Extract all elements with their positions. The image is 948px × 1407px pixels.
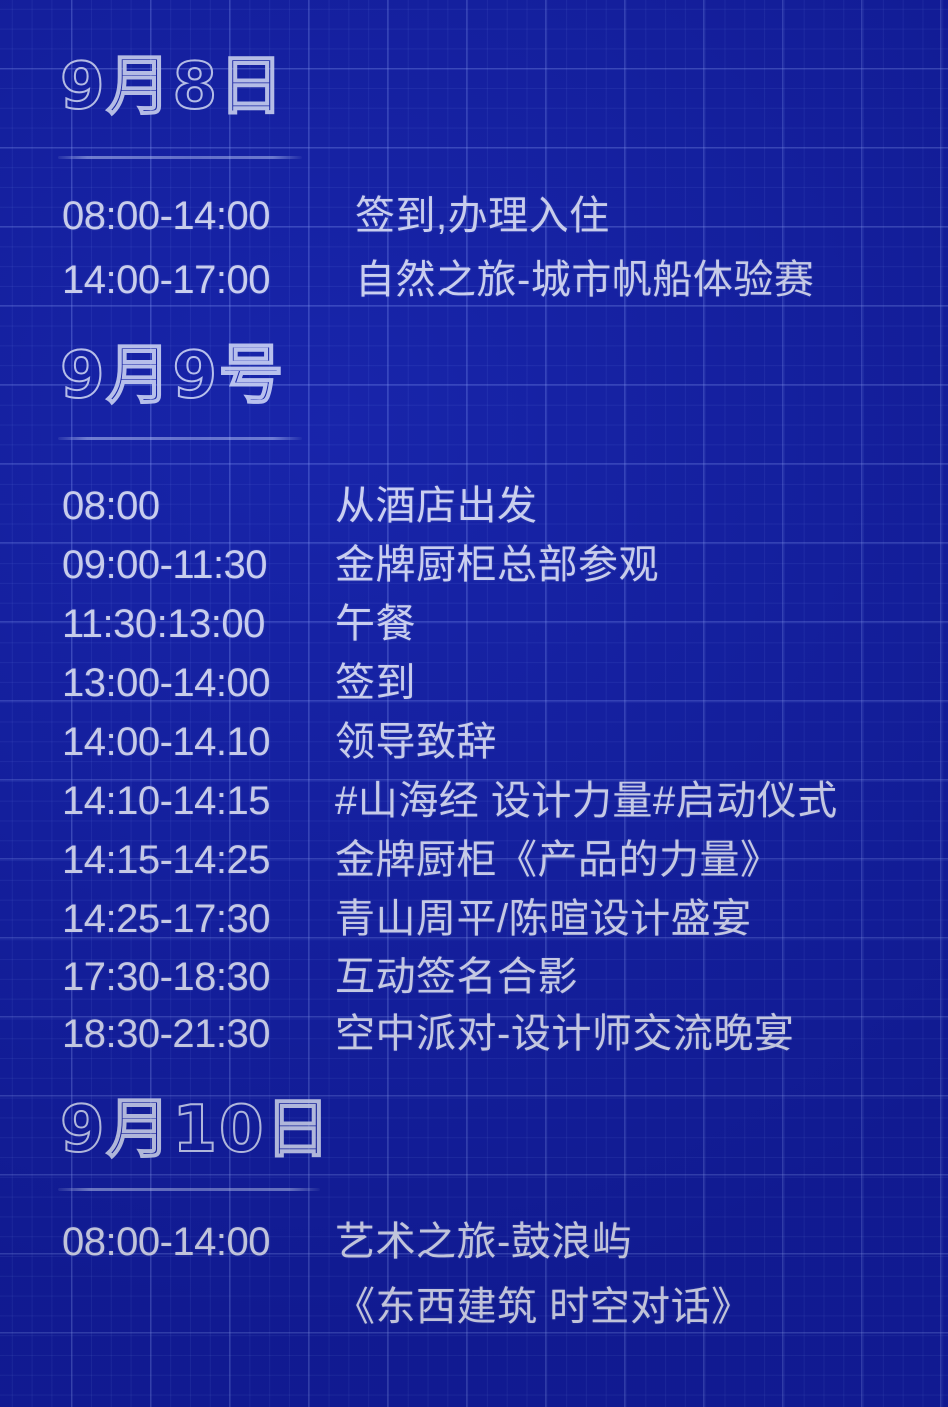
section-divider [58, 156, 302, 159]
date-header-sep-9: 9月9号 [60, 344, 285, 408]
row-activity: 《东西建筑 时空对话》 [335, 1287, 752, 1327]
row-time: 11:30:13:00 [62, 604, 265, 644]
row-activity: 领导致辞 [335, 722, 497, 762]
row-activity: 互动签名合影 [335, 957, 578, 997]
schedule-poster: 9月8日 08:00-14:00 签到,办理入住 14:00-17:00 自然之… [0, 0, 948, 1407]
row-time: 14:10-14:15 [62, 781, 270, 821]
row-activity: 空中派对-设计师交流晚宴 [335, 1014, 794, 1054]
row-time: 17:30-18:30 [62, 957, 270, 997]
row-activity: 从酒店出发 [335, 486, 538, 526]
section-divider [58, 437, 302, 440]
row-activity: 签到,办理入住 [355, 196, 610, 236]
date-header-sep-10: 9月10日 [60, 1098, 332, 1162]
section-divider [58, 1188, 320, 1191]
row-time: 14:15-14:25 [62, 840, 270, 880]
row-activity: 自然之旅-城市帆船体验赛 [355, 260, 814, 300]
row-time: 08:00-14:00 [62, 196, 270, 236]
row-time: 14:00-17:00 [62, 260, 270, 300]
row-activity: 午餐 [335, 604, 416, 644]
row-activity: 金牌厨柜总部参观 [335, 545, 659, 585]
row-time: 14:00-14.10 [62, 722, 270, 762]
row-activity: 艺术之旅-鼓浪屿 [335, 1222, 632, 1262]
row-activity: #山海经 设计力量#启动仪式 [335, 781, 838, 821]
row-time: 09:00-11:30 [62, 545, 267, 585]
row-time: 14:25-17:30 [62, 899, 270, 939]
date-header-sep-8: 9月8日 [60, 55, 285, 119]
row-activity: 青山周平/陈暄设计盛宴 [335, 899, 752, 939]
row-time: 08:00-14:00 [62, 1222, 270, 1262]
row-activity: 签到 [335, 663, 416, 703]
row-activity: 金牌厨柜《产品的力量》 [335, 840, 781, 880]
row-time: 08:00 [62, 486, 160, 526]
row-time: 13:00-14:00 [62, 663, 270, 703]
row-time: 18:30-21:30 [62, 1014, 270, 1054]
